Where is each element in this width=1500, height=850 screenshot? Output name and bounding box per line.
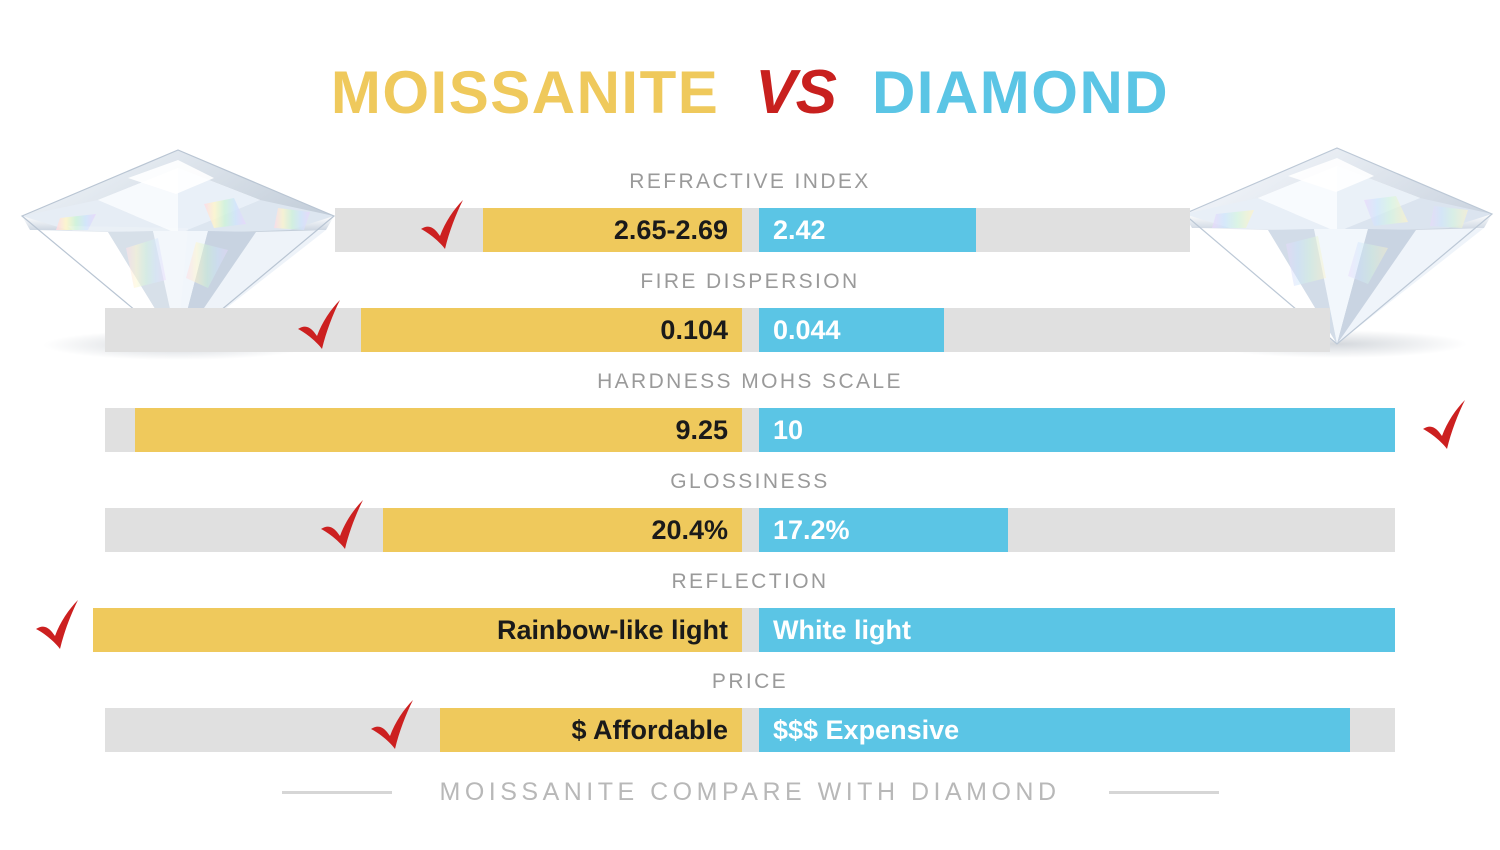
bar-value-moissanite: Rainbow-like light — [497, 617, 728, 644]
row-label: HARDNESS MOHS SCALE — [0, 370, 1500, 394]
bar-value-moissanite: 20.4% — [651, 517, 728, 544]
title-moissanite: MOISSANITE — [331, 63, 719, 123]
footer-divider-right — [1109, 791, 1219, 794]
bar-value-diamond: $$$ Expensive — [773, 717, 959, 744]
row-track — [105, 508, 1395, 552]
bar-value-moissanite: 2.65-2.69 — [614, 217, 728, 244]
bar-diamond: White light — [759, 608, 1395, 652]
bar-diamond: 10 — [759, 408, 1395, 452]
table-row: REFRACTIVE INDEX 2.65-2.69 2.42 — [0, 168, 1500, 268]
footer-caption: MOISSANITE COMPARE WITH DIAMOND — [0, 778, 1500, 807]
title-diamond: DIAMOND — [872, 63, 1169, 123]
bar-value-moissanite: 0.104 — [660, 317, 728, 344]
bar-diamond: 2.42 — [759, 208, 976, 252]
bar-diamond: 0.044 — [759, 308, 944, 352]
checkmark-icon — [1420, 396, 1472, 456]
checkmark-icon — [418, 196, 470, 256]
bar-value-diamond: 0.044 — [773, 317, 841, 344]
bar-moissanite: 0.104 — [361, 308, 742, 352]
bar-value-diamond: 10 — [773, 417, 803, 444]
title-vs: VS — [755, 62, 836, 124]
bar-value-diamond: White light — [773, 617, 911, 644]
table-row: HARDNESS MOHS SCALE 9.25 10 — [0, 368, 1500, 468]
bar-diamond: 17.2% — [759, 508, 1008, 552]
bar-value-diamond: 2.42 — [773, 217, 826, 244]
row-label: REFRACTIVE INDEX — [0, 170, 1500, 194]
bar-moissanite: 2.65-2.69 — [483, 208, 742, 252]
checkmark-icon — [33, 596, 85, 656]
checkmark-icon — [295, 296, 347, 356]
table-row: FIRE DISPERSION 0.104 0.044 — [0, 268, 1500, 368]
bar-value-moissanite: $ Affordable — [571, 717, 728, 744]
bar-diamond: $$$ Expensive — [759, 708, 1350, 752]
table-row: GLOSSINESS 20.4% 17.2% — [0, 468, 1500, 568]
comparison-rows: REFRACTIVE INDEX 2.65-2.69 2.42 FIRE DIS… — [0, 168, 1500, 768]
infographic-canvas: MOISSANITE VS DIAMOND — [0, 0, 1500, 850]
row-label: REFLECTION — [0, 570, 1500, 594]
bar-moissanite: Rainbow-like light — [93, 608, 742, 652]
checkmark-icon — [368, 696, 420, 756]
checkmark-icon — [318, 496, 370, 556]
table-row: REFLECTION Rainbow-like light White ligh… — [0, 568, 1500, 668]
row-label: FIRE DISPERSION — [0, 270, 1500, 294]
page-title: MOISSANITE VS DIAMOND — [0, 62, 1500, 124]
footer-text: MOISSANITE COMPARE WITH DIAMOND — [440, 778, 1061, 807]
bar-value-moissanite: 9.25 — [675, 417, 728, 444]
row-label: GLOSSINESS — [0, 470, 1500, 494]
bar-moissanite: 20.4% — [383, 508, 742, 552]
bar-moissanite: 9.25 — [135, 408, 742, 452]
bar-moissanite: $ Affordable — [440, 708, 742, 752]
row-label: PRICE — [0, 670, 1500, 694]
bar-value-diamond: 17.2% — [773, 517, 850, 544]
footer-divider-left — [282, 791, 392, 794]
table-row: PRICE $ Affordable $$$ Expensive — [0, 668, 1500, 768]
